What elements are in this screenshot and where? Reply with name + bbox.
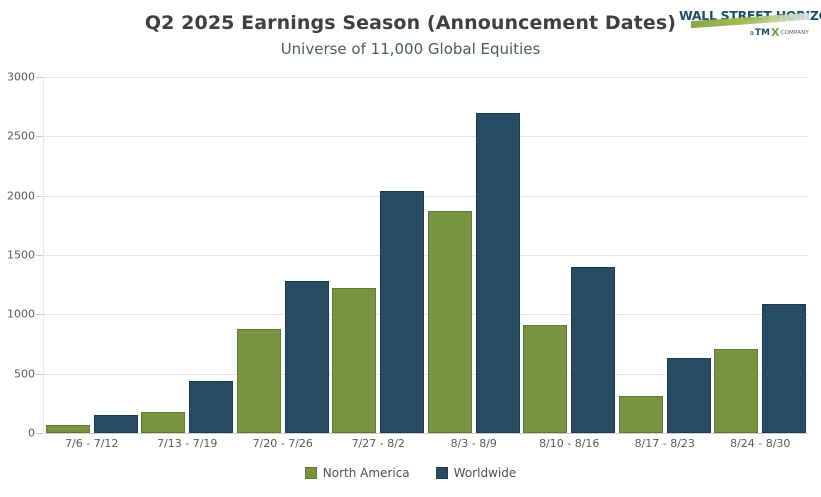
legend-item-north-america[interactable]: North America bbox=[305, 466, 410, 480]
bar-worldwide[interactable] bbox=[476, 113, 520, 433]
bar-worldwide[interactable] bbox=[571, 267, 615, 433]
bar-north-america[interactable] bbox=[619, 396, 663, 433]
bar-north-america[interactable] bbox=[428, 211, 472, 433]
bar-north-america[interactable] bbox=[332, 288, 376, 433]
y-tick-mark-2000 bbox=[36, 196, 43, 197]
bar-worldwide[interactable] bbox=[762, 304, 806, 433]
wall-street-horizon-logo: WALL STREET HORIZON a TM X COMPANY bbox=[679, 9, 809, 39]
y-tick-mark-0 bbox=[36, 433, 43, 434]
x-axis-label: 8/3 - 8/9 bbox=[426, 437, 522, 450]
y-tick-mark-1000 bbox=[36, 314, 43, 315]
bar-group bbox=[713, 77, 809, 433]
bar-north-america[interactable] bbox=[237, 329, 281, 433]
bar-north-america[interactable] bbox=[141, 412, 185, 433]
legend-swatch-icon bbox=[436, 467, 448, 479]
bar-worldwide[interactable] bbox=[380, 191, 424, 433]
chart-subtitle: Universe of 11,000 Global Equities bbox=[0, 40, 821, 58]
bar-worldwide[interactable] bbox=[285, 281, 329, 433]
y-tick-label-0: 0 bbox=[28, 427, 35, 440]
legend-swatch-icon bbox=[305, 467, 317, 479]
bar-group bbox=[235, 77, 331, 433]
y-tick-label-2500: 2500 bbox=[7, 130, 35, 143]
y-tick-mark-2500 bbox=[36, 136, 43, 137]
legend-label: Worldwide bbox=[454, 466, 517, 480]
chart-legend: North AmericaWorldwide bbox=[0, 466, 821, 480]
y-tick-label-3000: 3000 bbox=[7, 71, 35, 84]
x-axis-label: 7/20 - 7/26 bbox=[235, 437, 331, 450]
y-tick-label-1500: 1500 bbox=[7, 249, 35, 262]
plot-area: 050010001500200025003000 bbox=[44, 77, 808, 433]
bar-north-america[interactable] bbox=[46, 425, 90, 433]
y-tick-label-1000: 1000 bbox=[7, 308, 35, 321]
logo-tagline-suffix: COMPANY bbox=[780, 30, 809, 36]
logo-tagline-x-icon: X bbox=[771, 26, 779, 39]
bar-group bbox=[426, 77, 522, 433]
y-tick-mark-1500 bbox=[36, 255, 43, 256]
bar-group bbox=[331, 77, 427, 433]
x-axis-label: 8/10 - 8/16 bbox=[522, 437, 618, 450]
legend-label: North America bbox=[323, 466, 410, 480]
x-axis-label: 8/17 - 8/23 bbox=[617, 437, 713, 450]
bar-worldwide[interactable] bbox=[94, 415, 138, 433]
x-axis-label: 7/13 - 7/19 bbox=[140, 437, 236, 450]
bar-worldwide[interactable] bbox=[667, 358, 711, 433]
logo-tagline-prefix: a bbox=[750, 29, 754, 37]
logo-tagline: a TM X COMPANY bbox=[750, 26, 809, 39]
chart-container: Q2 2025 Earnings Season (Announcement Da… bbox=[0, 0, 821, 497]
bar-group bbox=[140, 77, 236, 433]
gridline-0 bbox=[44, 433, 808, 434]
bar-groups bbox=[44, 77, 808, 433]
bar-north-america[interactable] bbox=[714, 349, 758, 433]
bar-worldwide[interactable] bbox=[189, 381, 233, 433]
legend-item-worldwide[interactable]: Worldwide bbox=[436, 466, 517, 480]
x-axis-label: 7/6 - 7/12 bbox=[44, 437, 140, 450]
logo-tagline-brand: TM bbox=[755, 28, 770, 38]
x-axis-label: 7/27 - 8/2 bbox=[331, 437, 427, 450]
bar-group bbox=[44, 77, 140, 433]
y-tick-label-2000: 2000 bbox=[7, 189, 35, 202]
x-axis-labels: 7/6 - 7/127/13 - 7/197/20 - 7/267/27 - 8… bbox=[44, 437, 808, 450]
bar-north-america[interactable] bbox=[523, 325, 567, 433]
y-tick-label-500: 500 bbox=[14, 367, 35, 380]
bar-group bbox=[522, 77, 618, 433]
x-axis-label: 8/24 - 8/30 bbox=[713, 437, 809, 450]
y-tick-mark-500 bbox=[36, 374, 43, 375]
bar-group bbox=[617, 77, 713, 433]
y-tick-mark-3000 bbox=[36, 77, 43, 78]
